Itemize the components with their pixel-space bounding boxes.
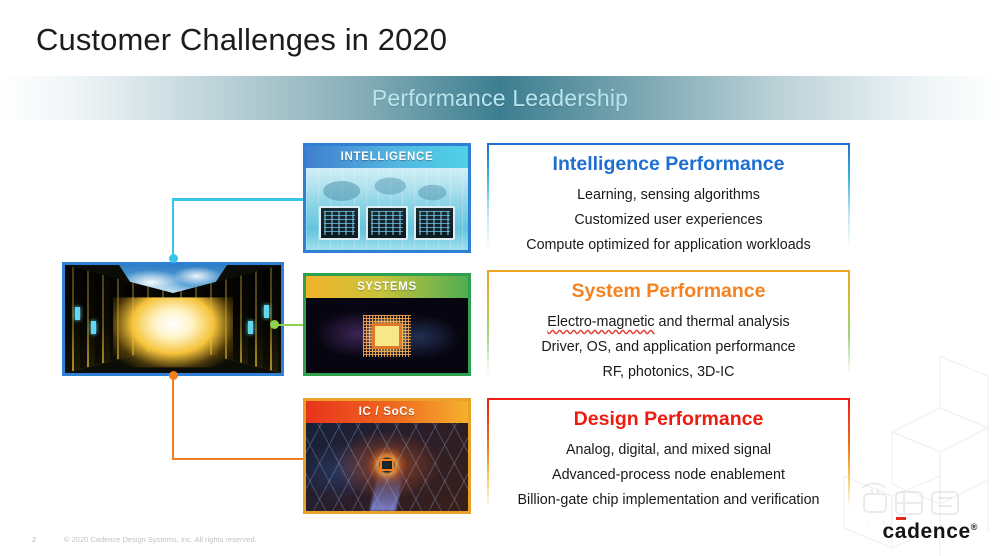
card-design-line-1: Analog, digital, and mixed signal — [487, 438, 850, 463]
hero-image-content — [65, 265, 281, 373]
performance-leadership-banner: Performance Leadership — [0, 76, 1000, 120]
thumbnail-intelligence[interactable]: INTELLIGENCE — [303, 143, 471, 253]
monitor-1 — [319, 206, 360, 240]
chip-die-graphic — [372, 323, 402, 349]
rack-led-right-2 — [248, 321, 253, 334]
rack-led-left-2 — [91, 321, 96, 334]
card-intelligence-line-3: Compute optimized for application worklo… — [487, 233, 850, 258]
card-system-line-1-rest: and thermal analysis — [655, 314, 790, 330]
card-intelligence-line-1: Learning, sensing algorithms — [487, 183, 850, 208]
ic-socs-connector-vline — [172, 375, 175, 460]
logo-part-1: c — [883, 520, 895, 543]
rack-led-left — [75, 307, 80, 320]
card-design-line-3: Billion-gate chip implementation and ver… — [487, 488, 850, 513]
card-design-content: Design Performance Analog, digital, and … — [487, 398, 850, 513]
card-intelligence-title: Intelligence Performance — [487, 153, 850, 176]
ic-socs-connector-hline — [172, 458, 306, 461]
intelligence-connector-hline — [172, 198, 306, 201]
logo-part-2: dence — [907, 520, 971, 543]
thumbnail-ic-socs-image — [306, 423, 468, 511]
card-system-content: System Performance Electro-magnetic and … — [487, 270, 850, 385]
monitor-3 — [414, 206, 455, 240]
hero-image-data-center — [62, 262, 284, 376]
thumbnail-ic-socs[interactable]: IC / SoCs — [303, 398, 471, 514]
thumbnail-systems-label: SYSTEMS — [306, 276, 468, 298]
thumbnail-ic-socs-label: IC / SoCs — [306, 401, 468, 423]
thumbnail-intelligence-label: INTELLIGENCE — [306, 146, 468, 168]
rack-led-right — [264, 305, 269, 318]
page-title: Customer Challenges in 2020 — [36, 22, 447, 58]
intelligence-connector-vline — [172, 198, 175, 258]
card-design-performance: Design Performance Analog, digital, and … — [487, 398, 850, 514]
card-system-line-2: Driver, OS, and application performance — [487, 335, 850, 360]
thumbnail-systems[interactable]: SYSTEMS — [303, 273, 471, 376]
card-system-line-3: RF, photonics, 3D-IC — [487, 360, 850, 385]
card-intelligence-line-2: Customized user experiences — [487, 208, 850, 233]
card-intelligence-performance: Intelligence Performance Learning, sensi… — [487, 143, 850, 255]
card-design-title: Design Performance — [487, 408, 850, 431]
card-system-line-1: Electro-magnetic and thermal analysis — [487, 310, 850, 335]
logo-part-bar: a — [895, 520, 907, 544]
monitor-2 — [366, 206, 407, 240]
card-system-title: System Performance — [487, 280, 850, 303]
logo-registered-mark: ® — [971, 522, 978, 532]
card-system-performance: System Performance Electro-magnetic and … — [487, 270, 850, 380]
chip-emblem-graphic — [380, 459, 394, 471]
thumbnail-intelligence-image — [306, 168, 468, 250]
cadence-logo: cadence® — [883, 520, 979, 544]
vanishing-point-glow — [113, 297, 233, 367]
banner-label: Performance Leadership — [372, 85, 628, 112]
copyright-notice: © 2020 Cadence Design Systems, Inc. All … — [64, 535, 257, 544]
page-number: 2 — [32, 535, 36, 544]
monitor-wall-graphic — [319, 193, 455, 241]
card-intelligence-content: Intelligence Performance Learning, sensi… — [487, 143, 850, 258]
spellcheck-word: Electro-magnetic — [547, 314, 654, 330]
card-design-line-2: Advanced-process node enablement — [487, 463, 850, 488]
svg-text:z: z — [866, 520, 869, 526]
thumbnail-systems-image — [306, 298, 468, 373]
